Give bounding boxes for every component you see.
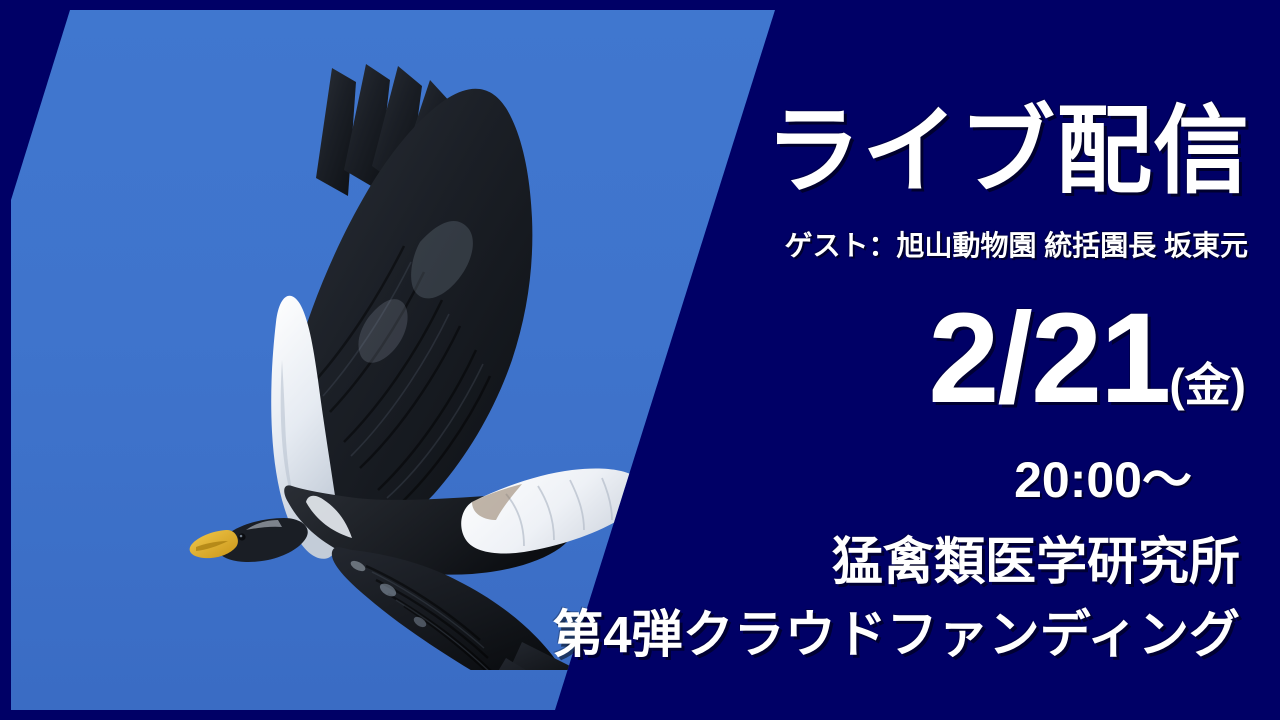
campaign-name: 第4弾クラウドファンディング bbox=[552, 609, 1240, 660]
announcement-text-column: ライブ配信 ゲスト：旭山動物園 統括園長 坂東元 2/21 (金) 20:00〜… bbox=[730, 0, 1250, 720]
letterbox-bar-bottom bbox=[0, 710, 1280, 720]
event-day-of-week: (金) bbox=[1169, 362, 1246, 418]
guest-line: ゲスト：旭山動物園 統括園長 坂東元 bbox=[784, 232, 1248, 260]
event-date-row: 2/21 (金) bbox=[928, 300, 1246, 418]
organization-name: 猛禽類医学研究所 bbox=[832, 536, 1240, 587]
steller-sea-eagle-illustration bbox=[120, 50, 680, 670]
event-time: 20:00〜 bbox=[1014, 455, 1192, 505]
page-title: ライブ配信 bbox=[765, 104, 1250, 200]
letterbox-bar-top bbox=[0, 0, 1280, 10]
poster-canvas: ライブ配信 ゲスト：旭山動物園 統括園長 坂東元 2/21 (金) 20:00〜… bbox=[0, 0, 1280, 720]
event-date: 2/21 bbox=[928, 300, 1169, 418]
